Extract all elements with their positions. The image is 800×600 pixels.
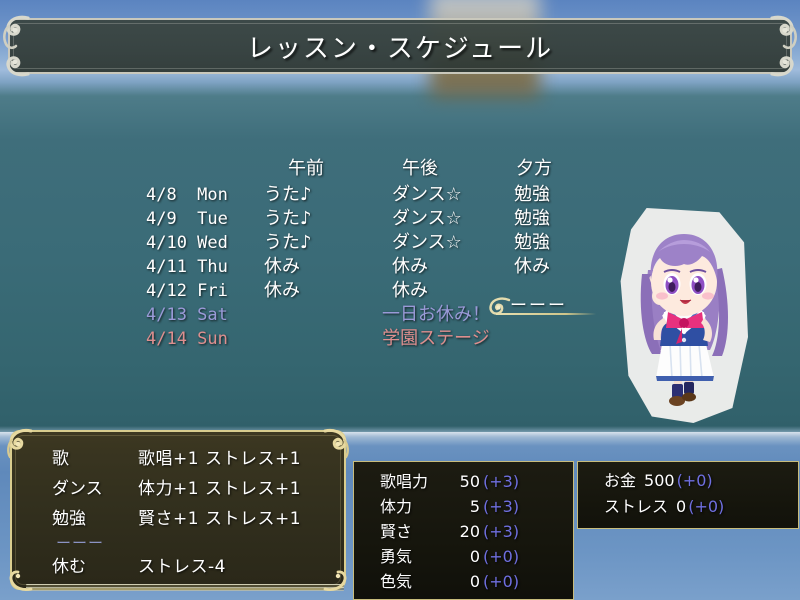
slot-evening[interactable]: 休み bbox=[514, 256, 594, 278]
stat-delta: (+3) bbox=[480, 521, 519, 543]
stat-value: 50 bbox=[446, 471, 480, 493]
slot-morning[interactable]: うた♪ bbox=[264, 208, 392, 230]
row-date: 4/11 Thu bbox=[146, 256, 264, 278]
resource-rows: お金 500 (+0) ストレス 0 (+0) bbox=[604, 470, 792, 522]
stat-label: 体力 bbox=[380, 496, 446, 518]
stat-value: 0 bbox=[446, 571, 480, 593]
character-sprite bbox=[618, 208, 748, 423]
legend-label: ダンス bbox=[52, 476, 138, 502]
stats-rows: 歌唱力 50 (+3) 体力 5 (+3) 賢さ 20 (+3) 勇気 0 (+… bbox=[380, 471, 567, 596]
legend-effect: 体力+1 ストレス+1 bbox=[138, 476, 301, 502]
slot-afternoon[interactable]: ダンス☆ bbox=[392, 232, 514, 254]
stat-label: 賢さ bbox=[380, 521, 446, 543]
resource-row-stress: ストレス 0 (+0) bbox=[604, 496, 792, 522]
schedule-row[interactable]: 4/9 Tue うた♪ ダンス☆ 勉強 bbox=[146, 208, 576, 232]
page-title: レッスン・スケジュール bbox=[247, 28, 553, 65]
legend-item-rest[interactable]: 休む ストレス-4 bbox=[52, 554, 332, 580]
header-morning: 午前 bbox=[264, 158, 392, 180]
stat-delta: (+3) bbox=[480, 496, 519, 518]
stat-value: 5 bbox=[446, 496, 480, 518]
stat-value: 0 bbox=[446, 546, 480, 568]
chibi-idol-icon bbox=[618, 208, 748, 423]
stat-row-wisdom: 賢さ 20 (+3) bbox=[380, 521, 567, 546]
row-date: 4/13 Sat bbox=[146, 304, 264, 326]
slot-full-day: 学園ステージ bbox=[264, 328, 594, 350]
row-date: 4/8 Mon bbox=[146, 184, 264, 206]
header-afternoon: 午後 bbox=[392, 158, 514, 180]
stat-row-charm: 色気 0 (+0) bbox=[380, 571, 567, 596]
game-screen: レッスン・スケジュール 午前 午後 夕方 4/8 Mon bbox=[0, 0, 800, 600]
legend-separator: ーーー bbox=[56, 537, 104, 549]
slot-morning[interactable]: 休み bbox=[264, 256, 392, 278]
legend-effect: 賢さ+1 ストレス+1 bbox=[138, 506, 301, 532]
row-date: 4/10 Wed bbox=[146, 232, 264, 254]
resource-label: お金 bbox=[604, 470, 644, 492]
legend-item-dance[interactable]: ダンス 体力+1 ストレス+1 bbox=[52, 476, 334, 506]
stat-delta: (+0) bbox=[480, 546, 519, 568]
row-date: 4/9 Tue bbox=[146, 208, 264, 230]
slot-evening[interactable]: 勉強 bbox=[514, 208, 594, 230]
legend-rows: 歌 歌唱+1 ストレス+1 ダンス 体力+1 ストレス+1 勉強 賢さ+1 スト… bbox=[52, 446, 334, 536]
resource-value: 500 bbox=[644, 470, 675, 492]
slot-morning[interactable]: うた♪ bbox=[264, 184, 392, 206]
stats-panel: 歌唱力 50 (+3) 体力 5 (+3) 賢さ 20 (+3) 勇気 0 (+… bbox=[353, 461, 574, 600]
resource-delta: (+0) bbox=[675, 470, 713, 492]
header-evening: 夕方 bbox=[514, 158, 594, 180]
schedule-table: 午前 午後 夕方 4/8 Mon うた♪ ダンス☆ 勉強 4/9 Tue うた♪… bbox=[146, 158, 576, 352]
legend-item-study[interactable]: 勉強 賢さ+1 ストレス+1 bbox=[52, 506, 334, 536]
legend-effect: ストレス-4 bbox=[138, 554, 226, 580]
resource-value: 0 bbox=[676, 496, 686, 518]
stat-row-vocal: 歌唱力 50 (+3) bbox=[380, 471, 567, 496]
stat-delta: (+3) bbox=[480, 471, 519, 493]
stat-label: 色気 bbox=[380, 571, 446, 593]
schedule-row[interactable]: 4/14 Sun 学園ステージ bbox=[146, 328, 576, 352]
legend-effect: 歌唱+1 ストレス+1 bbox=[138, 446, 301, 472]
resource-label: ストレス bbox=[604, 496, 676, 518]
stat-row-stamina: 体力 5 (+3) bbox=[380, 496, 567, 521]
resource-delta: (+0) bbox=[686, 496, 724, 518]
legend-label: 休む bbox=[52, 554, 138, 580]
schedule-row[interactable]: 4/10 Wed うた♪ ダンス☆ 勉強 bbox=[146, 232, 576, 256]
schedule-row[interactable]: 4/8 Mon うた♪ ダンス☆ 勉強 bbox=[146, 184, 576, 208]
slot-evening[interactable]: 勉強 bbox=[514, 184, 594, 206]
cursor-underline bbox=[496, 313, 596, 315]
slot-morning[interactable]: 休み bbox=[264, 280, 392, 302]
legend-label: 歌 bbox=[52, 446, 138, 472]
row-date: 4/12 Fri bbox=[146, 280, 264, 302]
row-date: 4/14 Sun bbox=[146, 328, 264, 350]
resources-panel: お金 500 (+0) ストレス 0 (+0) bbox=[577, 461, 799, 529]
schedule-row[interactable]: 4/11 Thu 休み 休み 休み bbox=[146, 256, 576, 280]
slot-afternoon[interactable]: 休み bbox=[392, 256, 514, 278]
stat-label: 勇気 bbox=[380, 546, 446, 568]
resource-row-money: お金 500 (+0) bbox=[604, 470, 792, 496]
stat-value: 20 bbox=[446, 521, 480, 543]
slot-morning[interactable]: うた♪ bbox=[264, 232, 392, 254]
window-title-bar: レッスン・スケジュール bbox=[8, 18, 792, 74]
legend-item-sing[interactable]: 歌 歌唱+1 ストレス+1 bbox=[52, 446, 334, 476]
legend-rest-underline bbox=[26, 584, 345, 592]
schedule-header-row: 午前 午後 夕方 bbox=[146, 158, 576, 184]
stat-delta: (+0) bbox=[480, 571, 519, 593]
lesson-legend-panel: 歌 歌唱+1 ストレス+1 ダンス 体力+1 ストレス+1 勉強 賢さ+1 スト… bbox=[10, 430, 346, 590]
stat-label: 歌唱力 bbox=[380, 471, 446, 493]
stat-row-courage: 勇気 0 (+0) bbox=[380, 546, 567, 571]
selection-cursor[interactable]: ーーー bbox=[488, 296, 598, 318]
slot-afternoon[interactable]: ダンス☆ bbox=[392, 184, 514, 206]
slot-evening[interactable]: 勉強 bbox=[514, 232, 594, 254]
slot-afternoon[interactable]: ダンス☆ bbox=[392, 208, 514, 230]
legend-label: 勉強 bbox=[52, 506, 138, 532]
cursor-dashes: ーーー bbox=[510, 298, 567, 314]
